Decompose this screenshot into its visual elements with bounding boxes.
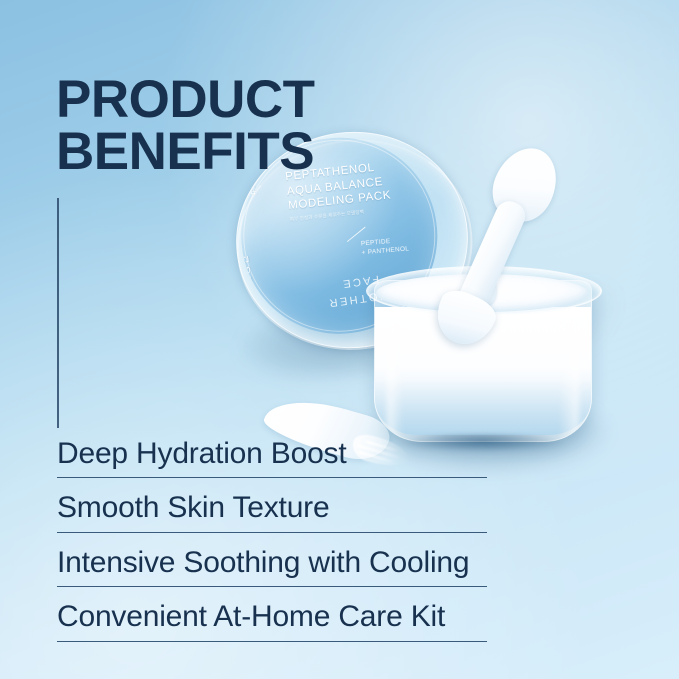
benefit-label: Convenient At-Home Care Kit [57,599,487,634]
page-title: PRODUCT BENEFITS [56,74,315,178]
jar-right-highlight [559,317,579,442]
benefit-item: Intensive Soothing with Cooling [57,545,487,587]
benefit-item: Deep Hydration Boost [57,436,487,478]
benefit-item: Convenient At-Home Care Kit [57,599,487,641]
benefit-label: Intensive Soothing with Cooling [57,545,487,580]
benefit-item: Smooth Skin Texture [57,490,487,532]
product-benefits-banner: PEPTATHENOL AQUA BALANCE MODELING PACK 피… [0,0,679,679]
vertical-divider [57,198,59,428]
benefit-label: Deep Hydration Boost [57,436,487,471]
title-line-2: BENEFITS [56,126,315,178]
benefit-label: Smooth Skin Texture [57,490,487,525]
title-line-1: PRODUCT [56,70,315,129]
benefits-list: Deep Hydration Boost Smooth Skin Texture… [57,436,487,654]
